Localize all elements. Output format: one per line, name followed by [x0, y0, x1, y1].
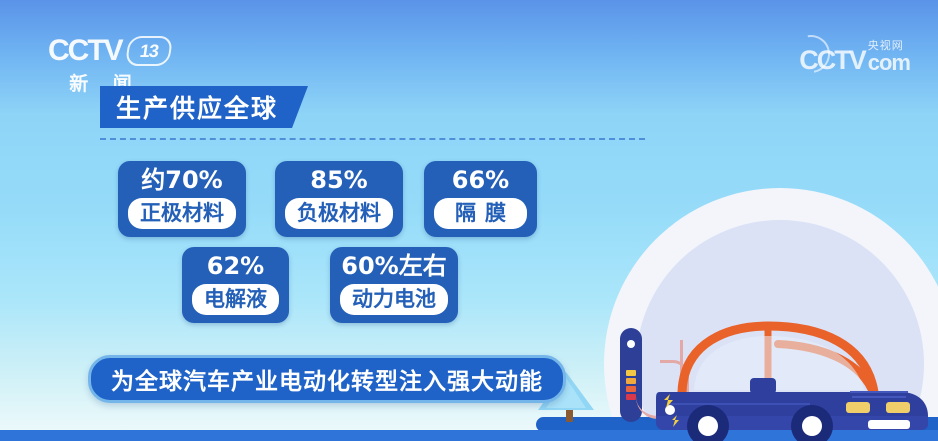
stat-percent: 62%	[207, 253, 264, 279]
cctv-com-tld: com	[868, 52, 910, 74]
page-title: 生产供应全球	[116, 89, 278, 125]
electric-car-icon	[650, 320, 938, 441]
stat-label: 负极材料	[285, 198, 393, 228]
stat-percent: 60%左右	[341, 253, 446, 279]
stat-percent: 85%	[310, 167, 367, 193]
title-banner: 生产供应全球	[100, 86, 308, 128]
stat-label: 正极材料	[128, 198, 236, 228]
charging-post-socket-icon	[627, 340, 635, 348]
cctv-com-logo: CCTV 央视网 com	[799, 40, 910, 74]
broadcast-graphic-canvas: CCTV 13 新 闻 CCTV 央视网 com 生产供应全球 约70% 正极材…	[0, 0, 938, 441]
stat-percent: 约70%	[141, 167, 222, 193]
channel-number-badge: 13	[125, 36, 173, 66]
stat-label: 动力电池	[340, 284, 448, 314]
stat-badge: 60%左右 动力电池	[330, 247, 458, 323]
title-divider	[100, 138, 645, 140]
cctv13-logo-row: CCTV 13	[48, 36, 171, 66]
cctv-com-stack: 央视网 com	[868, 40, 910, 74]
stat-label: 电解液	[192, 284, 279, 314]
stat-percent: 66%	[452, 167, 509, 193]
footer-banner: 为全球汽车产业电动化转型注入强大动能	[88, 355, 566, 403]
stat-badge: 62% 电解液	[182, 247, 289, 323]
cctv-wordmark: CCTV	[48, 36, 122, 66]
stat-label: 隔膜	[434, 198, 527, 228]
charging-post-indicator	[626, 370, 636, 402]
footer-text: 为全球汽车产业电动化转型注入强大动能	[111, 362, 543, 396]
stat-badge: 约70% 正极材料	[118, 161, 246, 237]
stat-badge: 66% 隔膜	[424, 161, 537, 237]
stat-badge: 85% 负极材料	[275, 161, 403, 237]
